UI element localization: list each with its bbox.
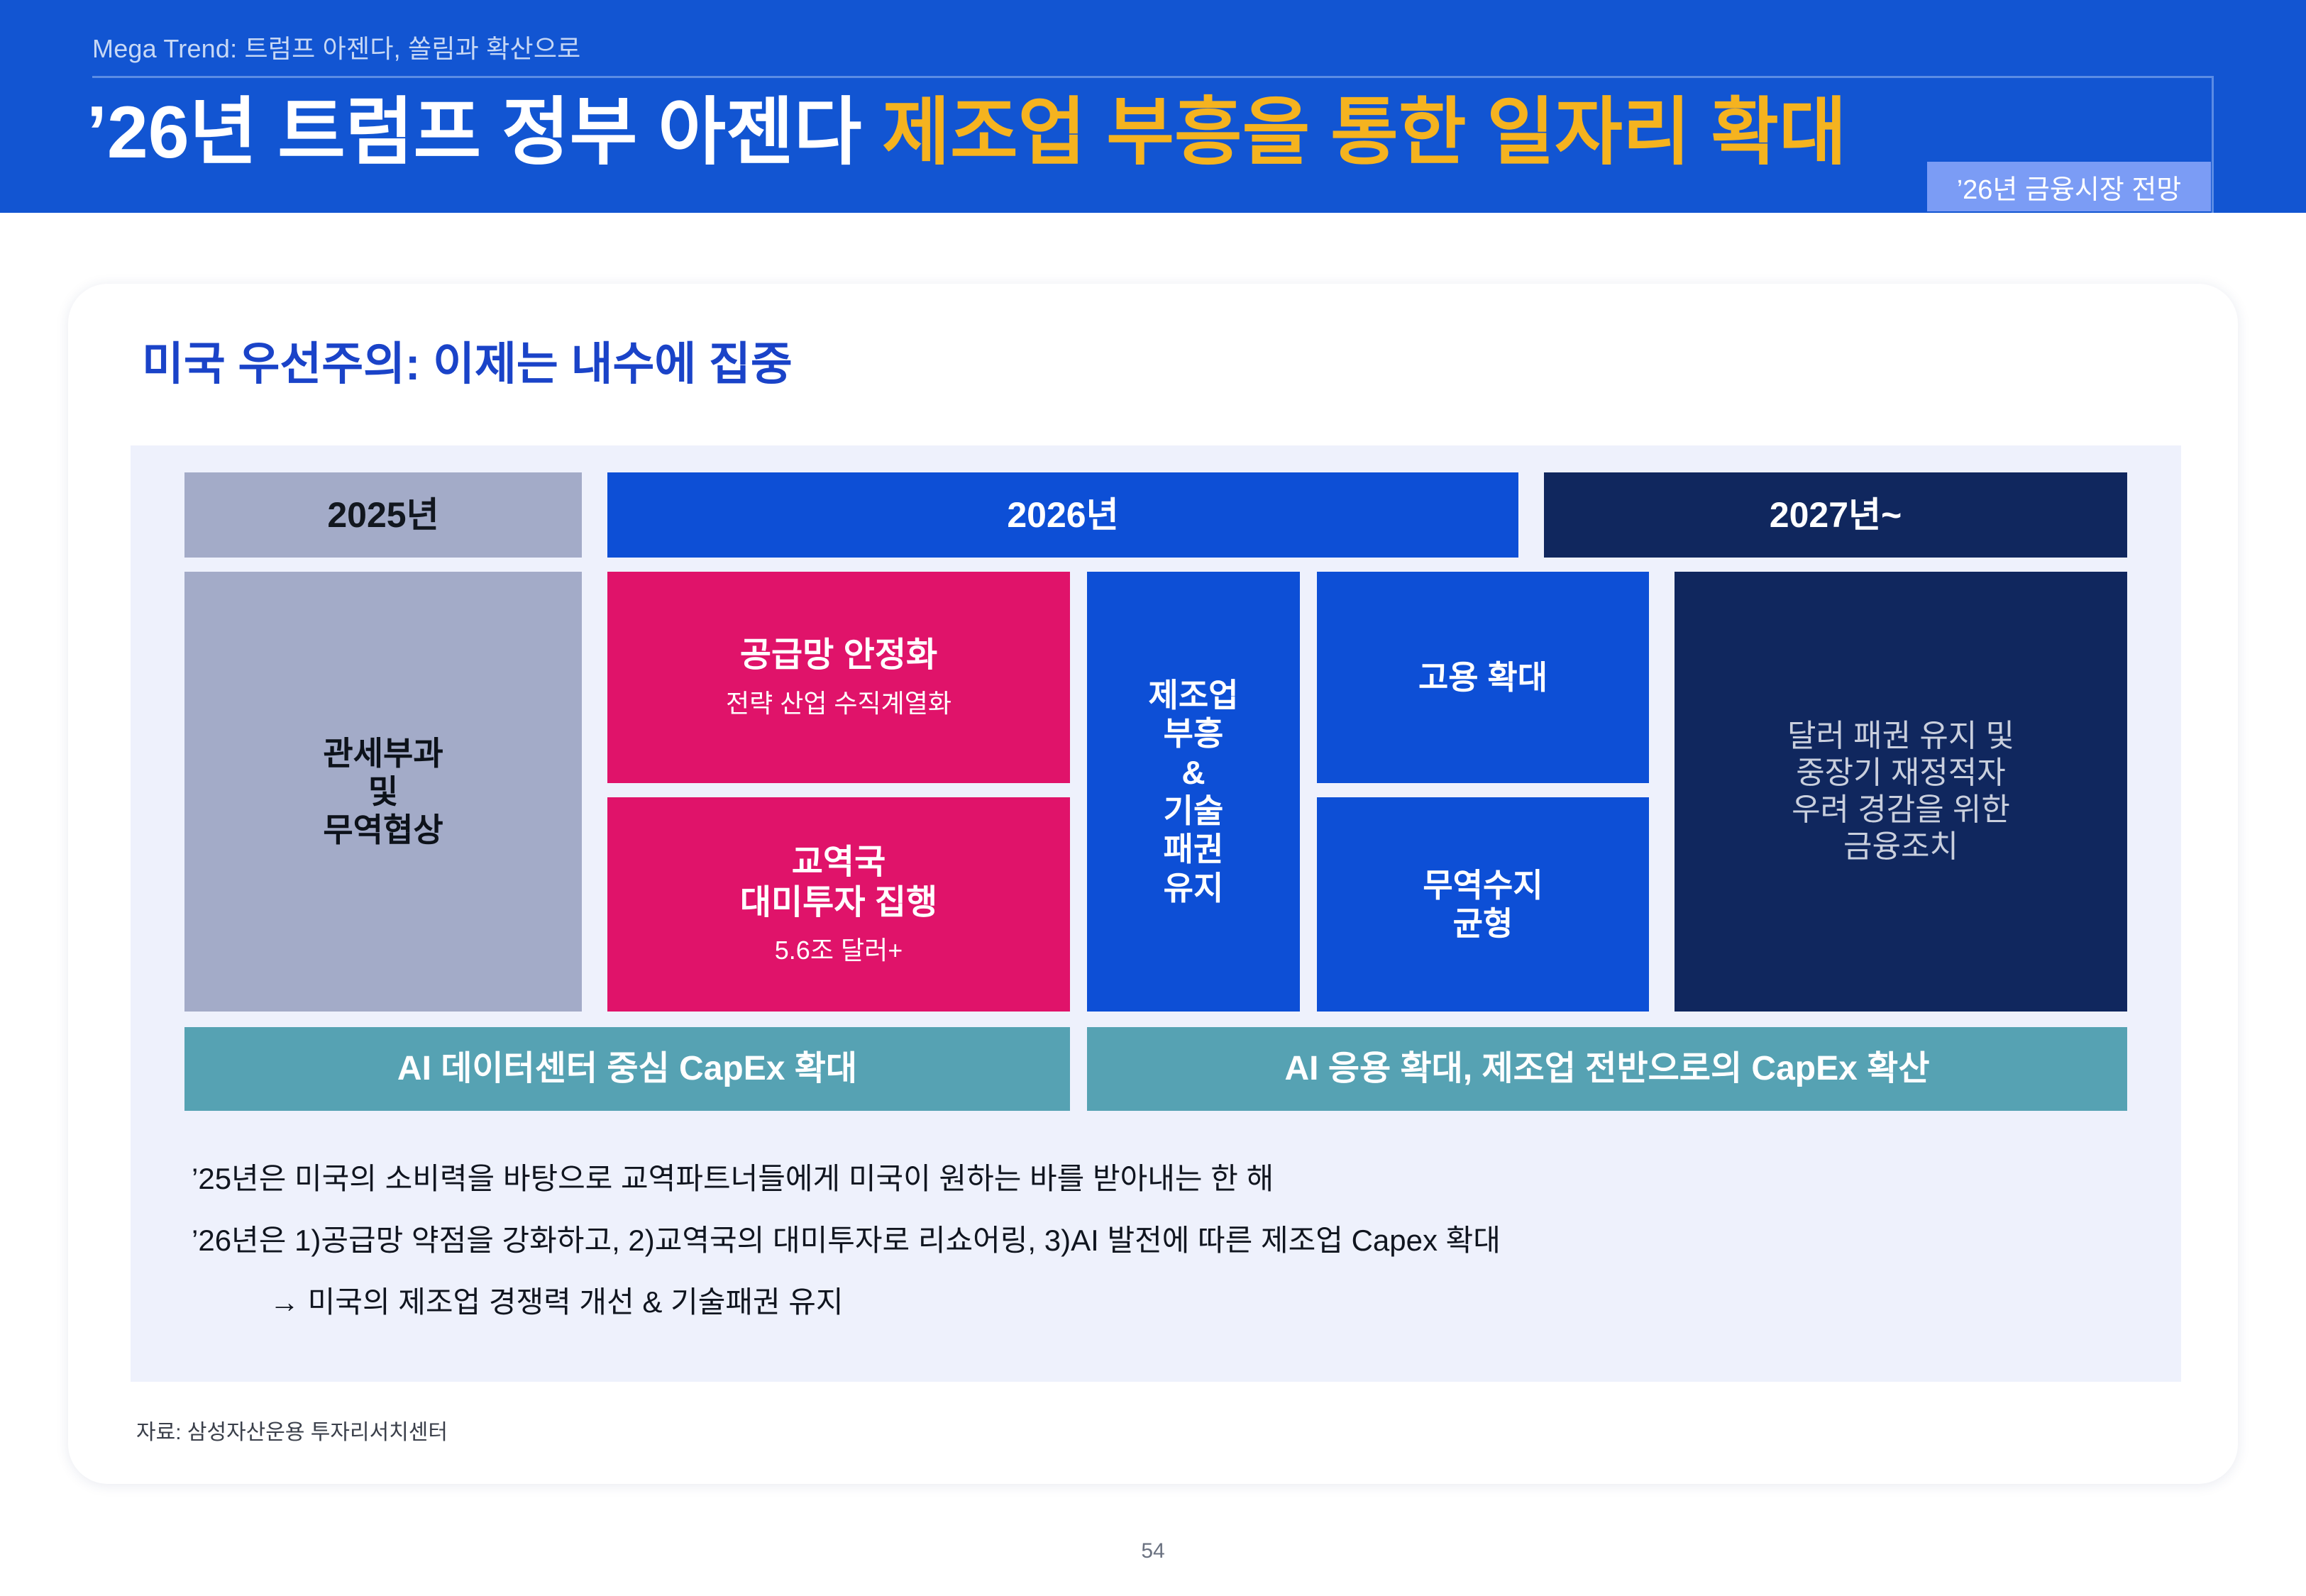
box-employment-expansion-label: 고용 확대 (1418, 658, 1548, 697)
box-manufacturing-tech-hegemony-label: 제조업 부흥 & 기술 패권 유지 (1149, 676, 1239, 907)
capex-bar-broad-manufacturing-label: AI 응용 확대, 제조업 전반으로의 CapEx 확산 (1285, 1049, 1930, 1090)
page-number: 54 (0, 1539, 2306, 1563)
capex-bar-datacenter-label: AI 데이터센터 중심 CapEx 확대 (397, 1049, 857, 1090)
year-header-2025: 2025년 (184, 472, 582, 558)
year-header-2027: 2027년~ (1544, 472, 2127, 558)
box-supply-chain: 공급망 안정화 전략 산업 수직계열화 (607, 572, 1070, 783)
box-dollar-hegemony-label: 달러 패권 유지 및 중장기 재정적자 우려 경감을 위한 금융조치 (1787, 718, 2014, 865)
content-card: 미국 우선주의: 이제는 내수에 집중 2025년 2026년 2027년~ 관… (68, 284, 2238, 1484)
capex-bar-broad-manufacturing: AI 응용 확대, 제조업 전반으로의 CapEx 확산 (1087, 1027, 2127, 1111)
note-item-conclusion: → 미국의 제조업 경쟁력 개선 & 기술패권 유지 (192, 1278, 2150, 1321)
box-tariff-negotiation-label: 관세부과 및 무역협상 (323, 734, 443, 850)
capex-bar-datacenter: AI 데이터센터 중심 CapEx 확대 (184, 1027, 1070, 1111)
box-trade-balance-label: 무역수지 균형 (1423, 866, 1543, 943)
timeline-diagram: 2025년 2026년 2027년~ 관세부과 및 무역협상 공급망 안정화 전… (131, 445, 2181, 1382)
box-partner-investment-amount: 5.6조 달러+ (775, 936, 903, 965)
box-partner-investment-label: 교역국 대미투자 집행 (740, 843, 937, 923)
box-manufacturing-tech-hegemony: 제조업 부흥 & 기술 패권 유지 (1087, 572, 1300, 1012)
header-divider-vertical (2212, 76, 2214, 213)
status-badge: ’26년 금융시장 전망 (1927, 162, 2211, 211)
slide-header: Mega Trend: 트럼프 아젠다, 쏠림과 확산으로 ’26년 트럼프 정… (0, 0, 2306, 213)
box-supply-chain-sublabel: 전략 산업 수직계열화 (726, 689, 951, 719)
card-heading: 미국 우선주의: 이제는 내수에 집중 (142, 328, 793, 393)
page-title-primary: ’26년 트럼프 정부 아젠다 (87, 92, 861, 174)
source-note: 자료: 삼성자산운용 투자리서치센터 (136, 1414, 448, 1446)
header-divider (92, 76, 2214, 78)
notes-list: ’25년은 미국의 소비력을 바탕으로 교역파트너들에게 미국이 원하는 바를 … (192, 1155, 2150, 1340)
box-partner-investment: 교역국 대미투자 집행 5.6조 달러+ (607, 797, 1070, 1012)
header-eyebrow: Mega Trend: 트럼프 아젠다, 쏠림과 확산으로 (92, 28, 580, 65)
page-title-accent: 제조업 부흥을 통한 일자리 확대 (882, 92, 1846, 174)
year-header-2027-label: 2027년~ (1770, 494, 1902, 536)
note-item-2025: ’25년은 미국의 소비력을 바탕으로 교역파트너들에게 미국이 원하는 바를 … (192, 1155, 2150, 1198)
year-header-2026-label: 2026년 (1007, 494, 1118, 536)
note-item-2026: ’26년은 1)공급망 약점을 강화하고, 2)교역국의 대미투자로 리쇼어링,… (192, 1217, 2150, 1260)
page-title: ’26년 트럼프 정부 아젠다 제조업 부흥을 통한 일자리 확대 (87, 91, 1847, 176)
box-employment-expansion: 고용 확대 (1317, 572, 1649, 783)
box-tariff-negotiation: 관세부과 및 무역협상 (184, 572, 582, 1012)
box-supply-chain-label: 공급망 안정화 (740, 636, 937, 676)
box-trade-balance: 무역수지 균형 (1317, 797, 1649, 1012)
year-header-2025-label: 2025년 (327, 494, 438, 536)
year-header-2026: 2026년 (607, 472, 1518, 558)
box-dollar-hegemony: 달러 패권 유지 및 중장기 재정적자 우려 경감을 위한 금융조치 (1675, 572, 2127, 1012)
